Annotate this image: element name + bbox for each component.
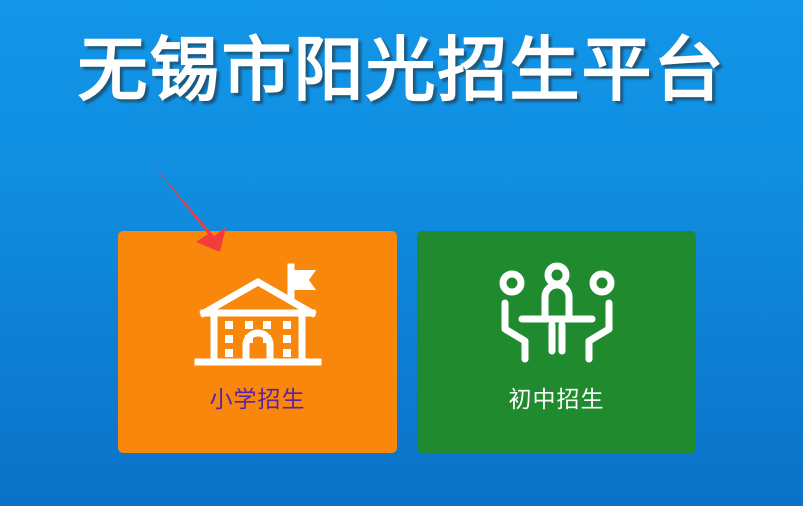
card-primary-school-label: 小学招生 (210, 385, 306, 415)
people-at-table-icon (491, 261, 623, 373)
card-junior-high-school[interactable]: 初中招生 (417, 231, 696, 453)
page-title: 无锡市阳光招生平台 (0, 28, 803, 112)
card-primary-school[interactable]: 小学招生 (118, 231, 397, 453)
card-junior-high-school-label: 初中招生 (509, 385, 605, 415)
app-root: 无锡市阳光招生平台 (0, 0, 803, 506)
school-building-icon (192, 261, 324, 373)
